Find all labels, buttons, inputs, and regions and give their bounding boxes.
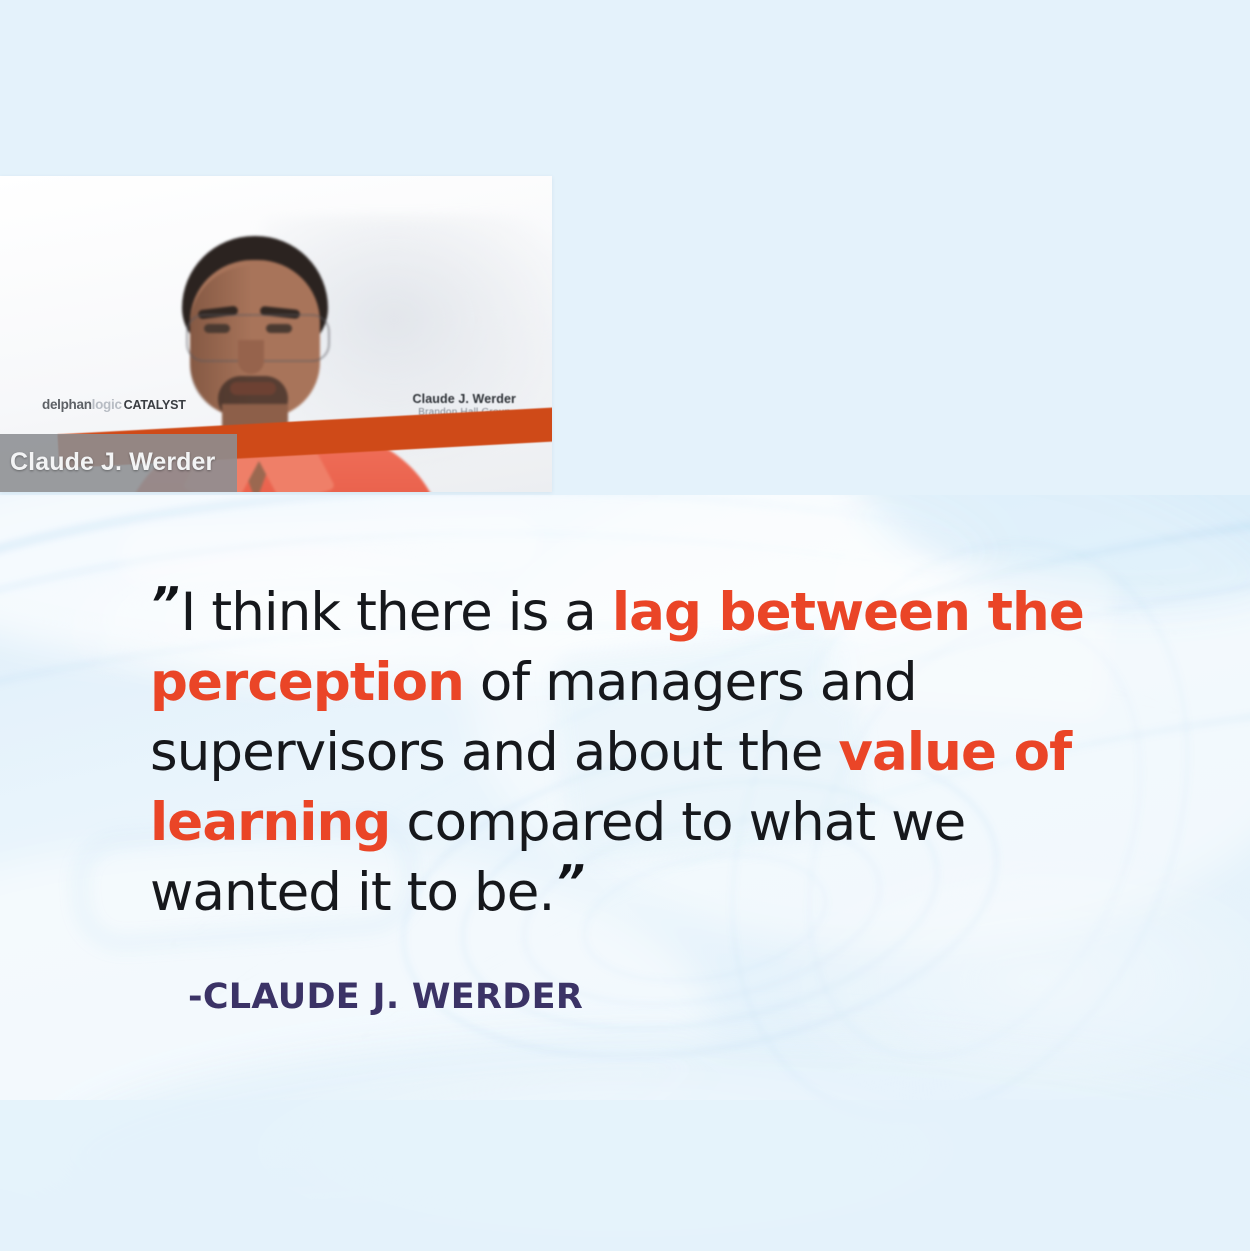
logo-part-delphan: delphan [42, 397, 92, 412]
video-frame: delphanlogicCATALYST Claude J. Werder Br… [0, 176, 552, 492]
speaker-nameplate-name: Claude J. Werder [413, 392, 517, 406]
delphanlogic-catalyst-logo: delphanlogicCATALYST [42, 397, 186, 412]
logo-part-catalyst: CATALYST [124, 398, 186, 412]
quote-segment-1: I think there is a [181, 582, 612, 643]
quote-block: ”I think there is a lag between the perc… [150, 578, 1110, 928]
lower-third-caption-text: Claude J. Werder [10, 448, 215, 477]
video-thumbnail[interactable]: delphanlogicCATALYST Claude J. Werder Br… [0, 176, 552, 492]
quote-card-slide: delphanlogicCATALYST Claude J. Werder Br… [0, 0, 1250, 1251]
logo-part-logic: logic [92, 397, 122, 412]
quote-text: ”I think there is a lag between the perc… [150, 578, 1110, 928]
quote-attribution: -CLAUDE J. WERDER [188, 977, 583, 1017]
